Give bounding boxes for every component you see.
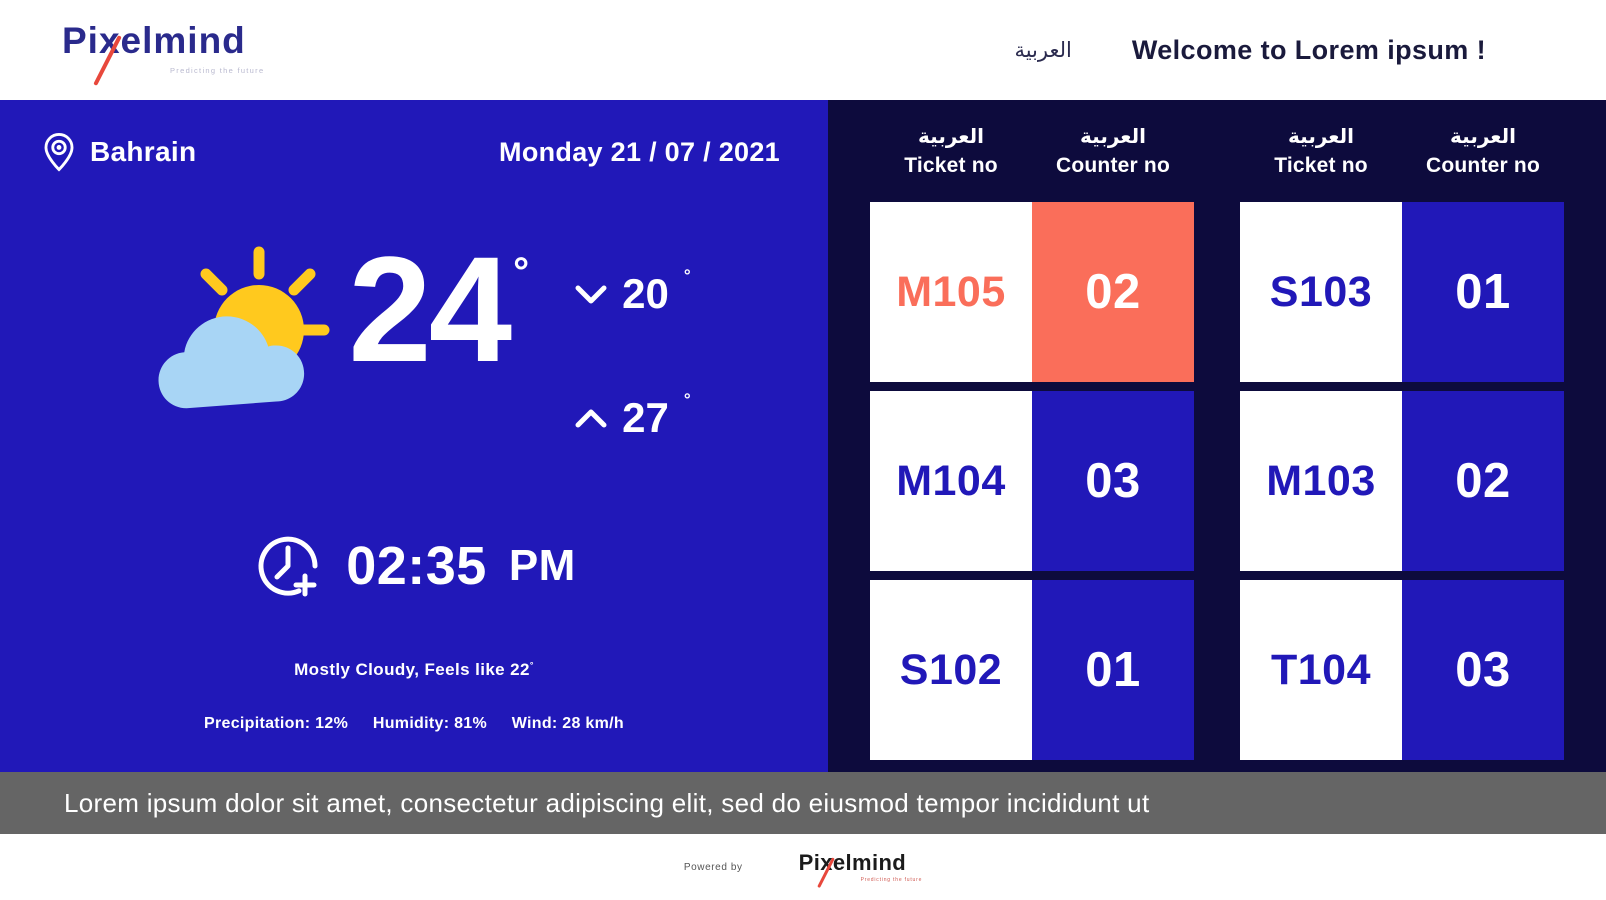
ticket-number: S103	[1240, 202, 1402, 382]
condition-text: Mostly Cloudy, Feels like 22	[294, 660, 530, 679]
counter-number: 01	[1402, 202, 1564, 382]
table-row[interactable]: S103 01	[1240, 202, 1564, 382]
chevron-up-icon	[574, 406, 608, 430]
condition-summary: Mostly Cloudy, Feels like 22°	[0, 660, 828, 680]
high-low-group: 20° 27°	[574, 258, 690, 454]
header-counter-no: العربية Counter no	[1032, 100, 1194, 202]
clock-plus-icon	[252, 530, 324, 602]
ticket-number: T104	[1240, 580, 1402, 760]
humidity-value: Humidity: 81%	[373, 715, 487, 732]
location-group: Bahrain	[42, 132, 196, 172]
brand-logo: Pixelmind Predicting the future	[62, 22, 292, 75]
page-header: Pixelmind Predicting the future العربية …	[0, 0, 1606, 100]
footer-brand-name-text: Pixelmind	[799, 850, 907, 875]
high-temperature: 27	[622, 394, 669, 442]
ticker-text: Lorem ipsum dolor sit amet, consectetur …	[0, 788, 1149, 819]
main-content: Bahrain Monday 21 / 07 / 2021	[0, 100, 1606, 772]
news-ticker-bar: Lorem ipsum dolor sit amet, consectetur …	[0, 772, 1606, 834]
low-temperature: 20	[622, 270, 669, 318]
welcome-title: Welcome to Lorem ipsum !	[1132, 35, 1486, 66]
table-row[interactable]: S102 01	[870, 580, 1194, 760]
header-ticket-no-english: Ticket no	[1240, 154, 1402, 178]
high-degree-symbol: °	[684, 390, 691, 410]
high-temperature-row: 27°	[574, 382, 690, 454]
brand-wordmark: Pixelmind	[62, 22, 292, 59]
location-pin-icon	[42, 132, 76, 172]
ticket-number: M103	[1240, 391, 1402, 571]
language-toggle-arabic[interactable]: العربية	[1014, 38, 1071, 62]
ticket-queue-panel: العربية Ticket no العربية Counter no M10…	[828, 100, 1606, 772]
header-counter-no-english: Counter no	[1402, 154, 1564, 178]
low-degree-symbol: °	[684, 266, 691, 286]
header-counter-no-arabic: العربية	[1032, 124, 1194, 148]
brand-name-text: Pixelmind	[62, 20, 246, 61]
header-right-group: العربية Welcome to Lorem ipsum !	[1014, 0, 1606, 100]
footer-brand-name: Pixelmind	[799, 852, 923, 874]
header-counter-no-english: Counter no	[1032, 154, 1194, 178]
page-footer: Powered by Pixelmind Predicting the futu…	[0, 834, 1606, 900]
time-meridiem: PM	[509, 541, 576, 591]
weather-panel-header: Bahrain Monday 21 / 07 / 2021	[42, 132, 780, 172]
ticket-column-left: العربية Ticket no العربية Counter no M10…	[870, 100, 1194, 772]
header-ticket-no-arabic: العربية	[870, 124, 1032, 148]
table-row[interactable]: T104 03	[1240, 580, 1564, 760]
header-counter-no: العربية Counter no	[1402, 100, 1564, 202]
header-ticket-no-arabic: العربية	[1240, 124, 1402, 148]
precipitation-value: Precipitation: 12%	[204, 715, 348, 732]
header-ticket-no: العربية Ticket no	[1240, 100, 1402, 202]
sun-behind-cloud-icon	[138, 246, 338, 426]
ticket-rows-left: M105 02 M104 03 S102 01	[870, 202, 1194, 760]
digital-signage-screen: Pixelmind Predicting the future العربية …	[0, 0, 1606, 900]
counter-number: 03	[1402, 580, 1564, 760]
brand-tagline: Predicting the future	[170, 66, 292, 75]
current-temperature-group: 24°	[348, 240, 522, 378]
wind-value: Wind: 28 km/h	[512, 715, 624, 732]
header-ticket-no: العربية Ticket no	[870, 100, 1032, 202]
counter-number: 01	[1032, 580, 1194, 760]
weather-main-row: 24° 20° 27°	[0, 240, 828, 454]
header-ticket-no-english: Ticket no	[870, 154, 1032, 178]
current-temperature: 24	[348, 225, 509, 393]
ticket-number: S102	[870, 580, 1032, 760]
ticket-number: M105	[870, 202, 1032, 382]
weather-metrics: Precipitation: 12% Humidity: 81% Wind: 2…	[0, 715, 828, 733]
header-counter-no-arabic: العربية	[1402, 124, 1564, 148]
chevron-down-icon	[574, 282, 608, 306]
footer-brand-tagline: Predicting the future	[861, 877, 923, 883]
current-time-group: 02:35 PM	[0, 530, 828, 602]
powered-by-label: Powered by	[684, 862, 743, 873]
table-row[interactable]: M103 02	[1240, 391, 1564, 571]
temperature-degree-symbol: °	[513, 250, 526, 294]
current-date: Monday 21 / 07 / 2021	[499, 137, 780, 168]
ticket-rows-right: S103 01 M103 02 T104 03	[1240, 202, 1564, 760]
counter-number: 03	[1032, 391, 1194, 571]
ticket-number: M104	[870, 391, 1032, 571]
condition-degree-symbol: °	[530, 660, 534, 670]
ticket-column-right-header: العربية Ticket no العربية Counter no	[1240, 100, 1564, 202]
ticket-column-left-header: العربية Ticket no العربية Counter no	[870, 100, 1194, 202]
location-name: Bahrain	[90, 136, 196, 168]
ticket-column-right: العربية Ticket no العربية Counter no S10…	[1240, 100, 1564, 772]
current-time: 02:35	[346, 535, 487, 597]
table-row[interactable]: M104 03	[870, 391, 1194, 571]
low-temperature-row: 20°	[574, 258, 690, 330]
weather-panel: Bahrain Monday 21 / 07 / 2021	[0, 100, 828, 772]
counter-number: 02	[1402, 391, 1564, 571]
table-row[interactable]: M105 02	[870, 202, 1194, 382]
counter-number: 02	[1032, 202, 1194, 382]
footer-brand-logo: Pixelmind Predicting the future	[799, 852, 923, 883]
